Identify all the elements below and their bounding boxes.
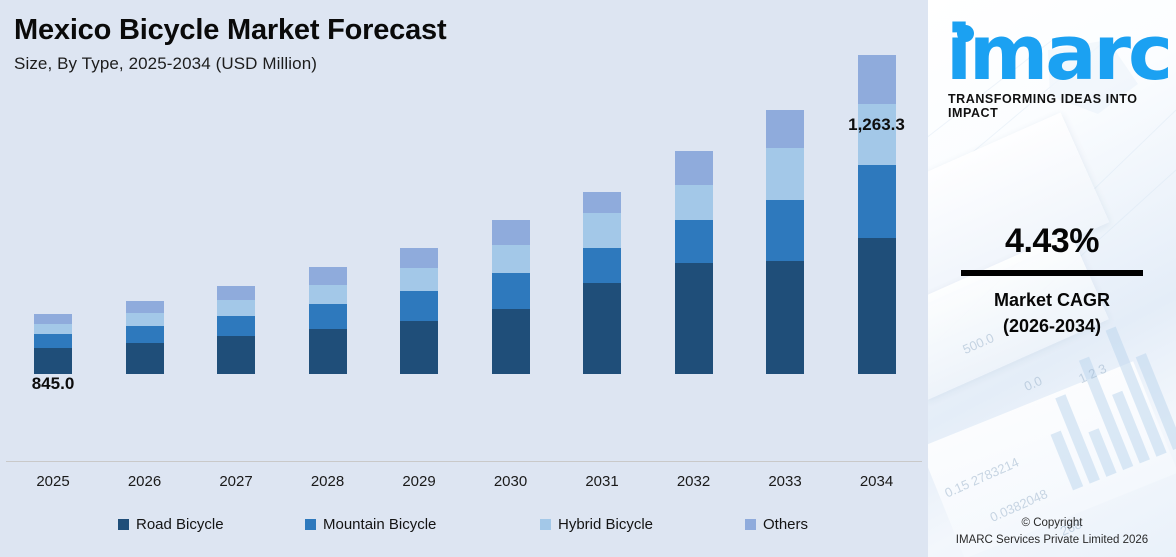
legend-swatch-icon <box>305 519 316 530</box>
x-axis-label-2031: 2031 <box>583 473 621 490</box>
x-axis-label-2032: 2032 <box>675 473 713 490</box>
bar-2034[interactable] <box>858 55 896 374</box>
bar-segment-mountain-bicycle-2031[interactable] <box>583 248 621 283</box>
bar-segment-road-bicycle-2028[interactable] <box>309 329 347 374</box>
legend-label: Road Bicycle <box>136 516 224 533</box>
cagr-divider <box>961 270 1143 276</box>
bar-segment-road-bicycle-2032[interactable] <box>675 263 713 374</box>
x-axis-label-2030: 2030 <box>492 473 530 490</box>
bar-2031[interactable] <box>583 192 621 374</box>
bar-2027[interactable] <box>217 286 255 374</box>
bar-segment-road-bicycle-2027[interactable] <box>217 336 255 374</box>
logo-wordmark: imarc <box>946 16 1176 90</box>
bar-segment-hybrid-bicycle-2026[interactable] <box>126 313 164 326</box>
legend-swatch-icon <box>118 519 129 530</box>
bar-segment-road-bicycle-2026[interactable] <box>126 343 164 374</box>
bar-segment-others-2028[interactable] <box>309 267 347 285</box>
bar-segment-others-2031[interactable] <box>583 192 621 213</box>
copyright: © Copyright IMARC Services Private Limit… <box>928 515 1176 550</box>
bar-segment-mountain-bicycle-2029[interactable] <box>400 291 438 321</box>
bar-segment-hybrid-bicycle-2028[interactable] <box>309 285 347 304</box>
bar-segment-hybrid-bicycle-2031[interactable] <box>583 213 621 248</box>
bar-segment-mountain-bicycle-2027[interactable] <box>217 316 255 336</box>
bar-segment-mountain-bicycle-2026[interactable] <box>126 326 164 343</box>
bar-value-label-2034: 1,263.3 <box>848 115 905 135</box>
chart-page: Mexico Bicycle Market Forecast Size, By … <box>0 0 1176 557</box>
copyright-line-2: IMARC Services Private Limited 2026 <box>928 532 1176 549</box>
x-axis-label-2034: 2034 <box>858 473 896 490</box>
bar-segment-hybrid-bicycle-2029[interactable] <box>400 268 438 291</box>
bar-segment-hybrid-bicycle-2030[interactable] <box>492 245 530 273</box>
bar-segment-others-2032[interactable] <box>675 151 713 185</box>
bar-segment-hybrid-bicycle-2033[interactable] <box>766 148 804 200</box>
bar-segment-road-bicycle-2033[interactable] <box>766 261 804 374</box>
bar-segment-mountain-bicycle-2028[interactable] <box>309 304 347 329</box>
bar-segment-road-bicycle-2034[interactable] <box>858 238 896 374</box>
watermark-number: 1 2 3 <box>1076 361 1109 386</box>
bar-2028[interactable] <box>309 267 347 374</box>
logo-mark: imarc <box>936 16 1176 90</box>
bar-segment-others-2033[interactable] <box>766 110 804 148</box>
bar-2029[interactable] <box>400 248 438 374</box>
bar-segment-hybrid-bicycle-2032[interactable] <box>675 185 713 220</box>
bar-segment-others-2029[interactable] <box>400 248 438 268</box>
legend-item-road-bicycle[interactable]: Road Bicycle <box>118 516 224 533</box>
legend-item-others[interactable]: Others <box>745 516 808 533</box>
bar-segment-mountain-bicycle-2033[interactable] <box>766 200 804 261</box>
bar-segment-road-bicycle-2029[interactable] <box>400 321 438 374</box>
cagr-block: 4.43% Market CAGR (2026-2034) <box>928 222 1176 339</box>
x-axis-label-2026: 2026 <box>126 473 164 490</box>
legend-label: Others <box>763 516 808 533</box>
copyright-line-1: © Copyright <box>928 515 1176 532</box>
bar-segment-others-2025[interactable] <box>34 314 72 324</box>
bar-segment-road-bicycle-2025[interactable] <box>34 348 72 374</box>
logo-dot-icon <box>957 25 974 42</box>
legend-swatch-icon <box>745 519 756 530</box>
bar-value-label-2025: 845.0 <box>32 374 75 394</box>
bar-segment-others-2034[interactable] <box>858 55 896 104</box>
x-axis-label-2029: 2029 <box>400 473 438 490</box>
bar-2026[interactable] <box>126 301 164 374</box>
legend-swatch-icon <box>540 519 551 530</box>
bar-segment-others-2030[interactable] <box>492 220 530 245</box>
cagr-caption-primary: Market CAGR <box>928 287 1176 313</box>
bar-segment-hybrid-bicycle-2027[interactable] <box>217 300 255 316</box>
bar-segment-others-2027[interactable] <box>217 286 255 300</box>
watermark-number: 0.15 2783214 <box>942 454 1021 500</box>
x-axis-label-2033: 2033 <box>766 473 804 490</box>
bar-segment-others-2026[interactable] <box>126 301 164 313</box>
bar-segment-mountain-bicycle-2025[interactable] <box>34 334 72 348</box>
x-axis-label-2028: 2028 <box>309 473 347 490</box>
bar-segment-mountain-bicycle-2032[interactable] <box>675 220 713 263</box>
cagr-value: 4.43% <box>928 222 1176 261</box>
bar-segment-road-bicycle-2030[interactable] <box>492 309 530 374</box>
imarc-logo: imarc TRANSFORMING IDEAS INTO IMPACT <box>936 16 1176 120</box>
cagr-caption-period: (2026-2034) <box>928 313 1176 339</box>
plot-area: 845.020252026202720282029203020312032203… <box>0 0 928 470</box>
x-axis-label-2027: 2027 <box>217 473 255 490</box>
watermark-number: 0.0 <box>1022 373 1045 394</box>
bar-2032[interactable] <box>675 151 713 374</box>
brand-panel: 0.15 2783214 500.0 0.0 1 2 3 0.0382048 2… <box>928 0 1176 557</box>
bar-2033[interactable] <box>766 110 804 374</box>
bar-segment-mountain-bicycle-2034[interactable] <box>858 165 896 238</box>
legend-label: Mountain Bicycle <box>323 516 436 533</box>
chart-legend: Road BicycleMountain BicycleHybrid Bicyc… <box>0 516 928 544</box>
x-axis-line <box>6 461 922 462</box>
bar-segment-road-bicycle-2031[interactable] <box>583 283 621 374</box>
legend-item-hybrid-bicycle[interactable]: Hybrid Bicycle <box>540 516 653 533</box>
x-axis-label-2025: 2025 <box>34 473 72 490</box>
bar-2030[interactable] <box>492 220 530 374</box>
chart-panel: Mexico Bicycle Market Forecast Size, By … <box>0 0 928 557</box>
bar-2025[interactable] <box>34 314 72 374</box>
bar-segment-mountain-bicycle-2030[interactable] <box>492 273 530 309</box>
legend-item-mountain-bicycle[interactable]: Mountain Bicycle <box>305 516 436 533</box>
bar-segment-hybrid-bicycle-2025[interactable] <box>34 324 72 334</box>
legend-label: Hybrid Bicycle <box>558 516 653 533</box>
